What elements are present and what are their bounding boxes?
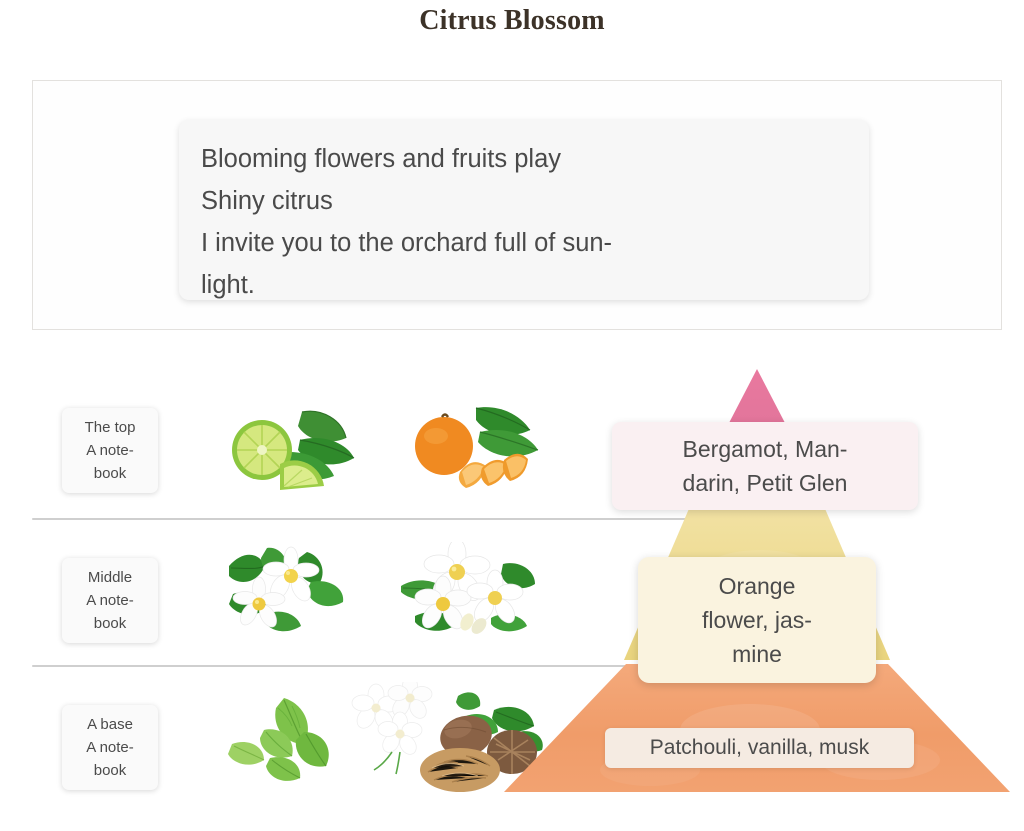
bergamot-icon xyxy=(218,398,368,498)
note-card-base[interactable]: Patchouli, vanilla, musk xyxy=(605,728,914,768)
chip-base-note[interactable]: A base A note- book xyxy=(62,705,158,790)
fragrance-pyramid-page: Citrus Blossom Blooming flowers and frui… xyxy=(0,0,1024,831)
poem-text: Blooming flowers and fruits play Shiny c… xyxy=(201,138,847,306)
note-card-middle[interactable]: Orange flower, jas- mine xyxy=(638,557,876,683)
chip-middle-note[interactable]: Middle A note- book xyxy=(62,558,158,643)
page-title: Citrus Blossom xyxy=(0,5,1024,37)
poem-frame: Blooming flowers and fruits play Shiny c… xyxy=(32,80,1002,330)
patchouli-icon xyxy=(218,692,368,792)
poem-card: Blooming flowers and fruits play Shiny c… xyxy=(179,120,869,300)
notes-section: The top A note- book Middle A note- book… xyxy=(0,360,1024,831)
orange-blossom-icon xyxy=(215,542,365,642)
chip-top-note[interactable]: The top A note- book xyxy=(62,408,158,493)
note-card-top[interactable]: Bergamot, Man- darin, Petit Glen xyxy=(612,422,918,510)
